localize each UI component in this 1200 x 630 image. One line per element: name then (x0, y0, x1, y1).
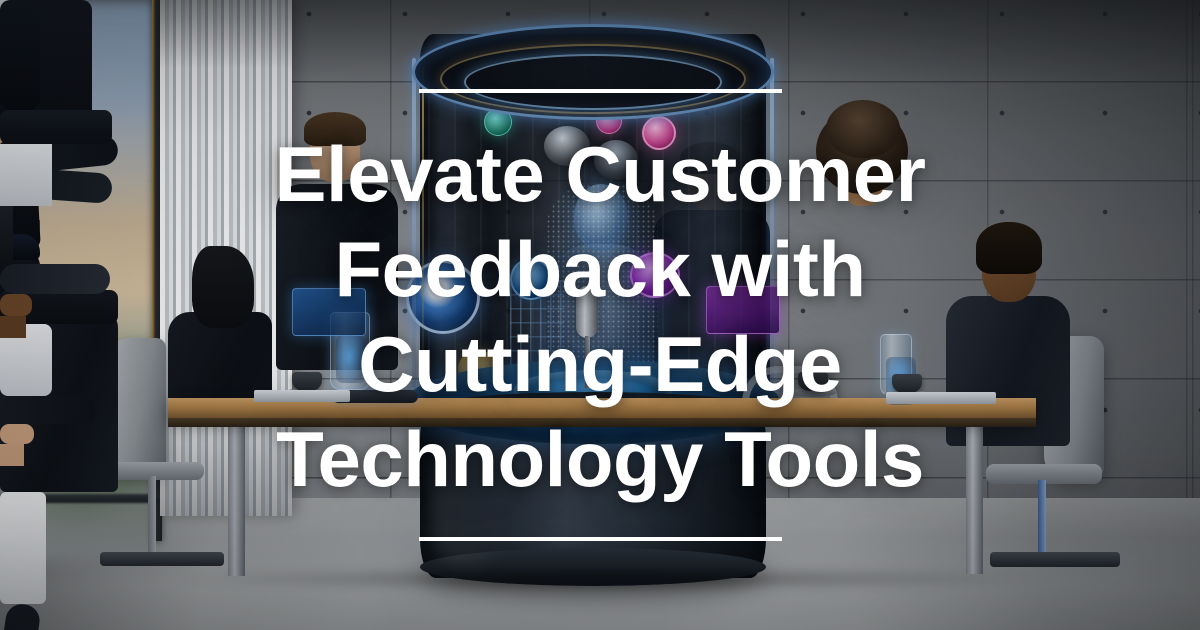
divider-top (419, 89, 782, 93)
headline-line-1: Elevate Customer (275, 127, 926, 222)
banner-image: Elevate Customer Feedback with Cutting-E… (0, 0, 1200, 630)
headline-line-2: Feedback with (275, 222, 926, 317)
page-title: Elevate Customer Feedback with Cutting-E… (275, 127, 926, 507)
headline-line-4: Technology Tools (275, 412, 926, 507)
divider-bottom (419, 537, 782, 541)
headline-block: Elevate Customer Feedback with Cutting-E… (0, 0, 1200, 630)
headline-line-3: Cutting-Edge (275, 317, 926, 412)
